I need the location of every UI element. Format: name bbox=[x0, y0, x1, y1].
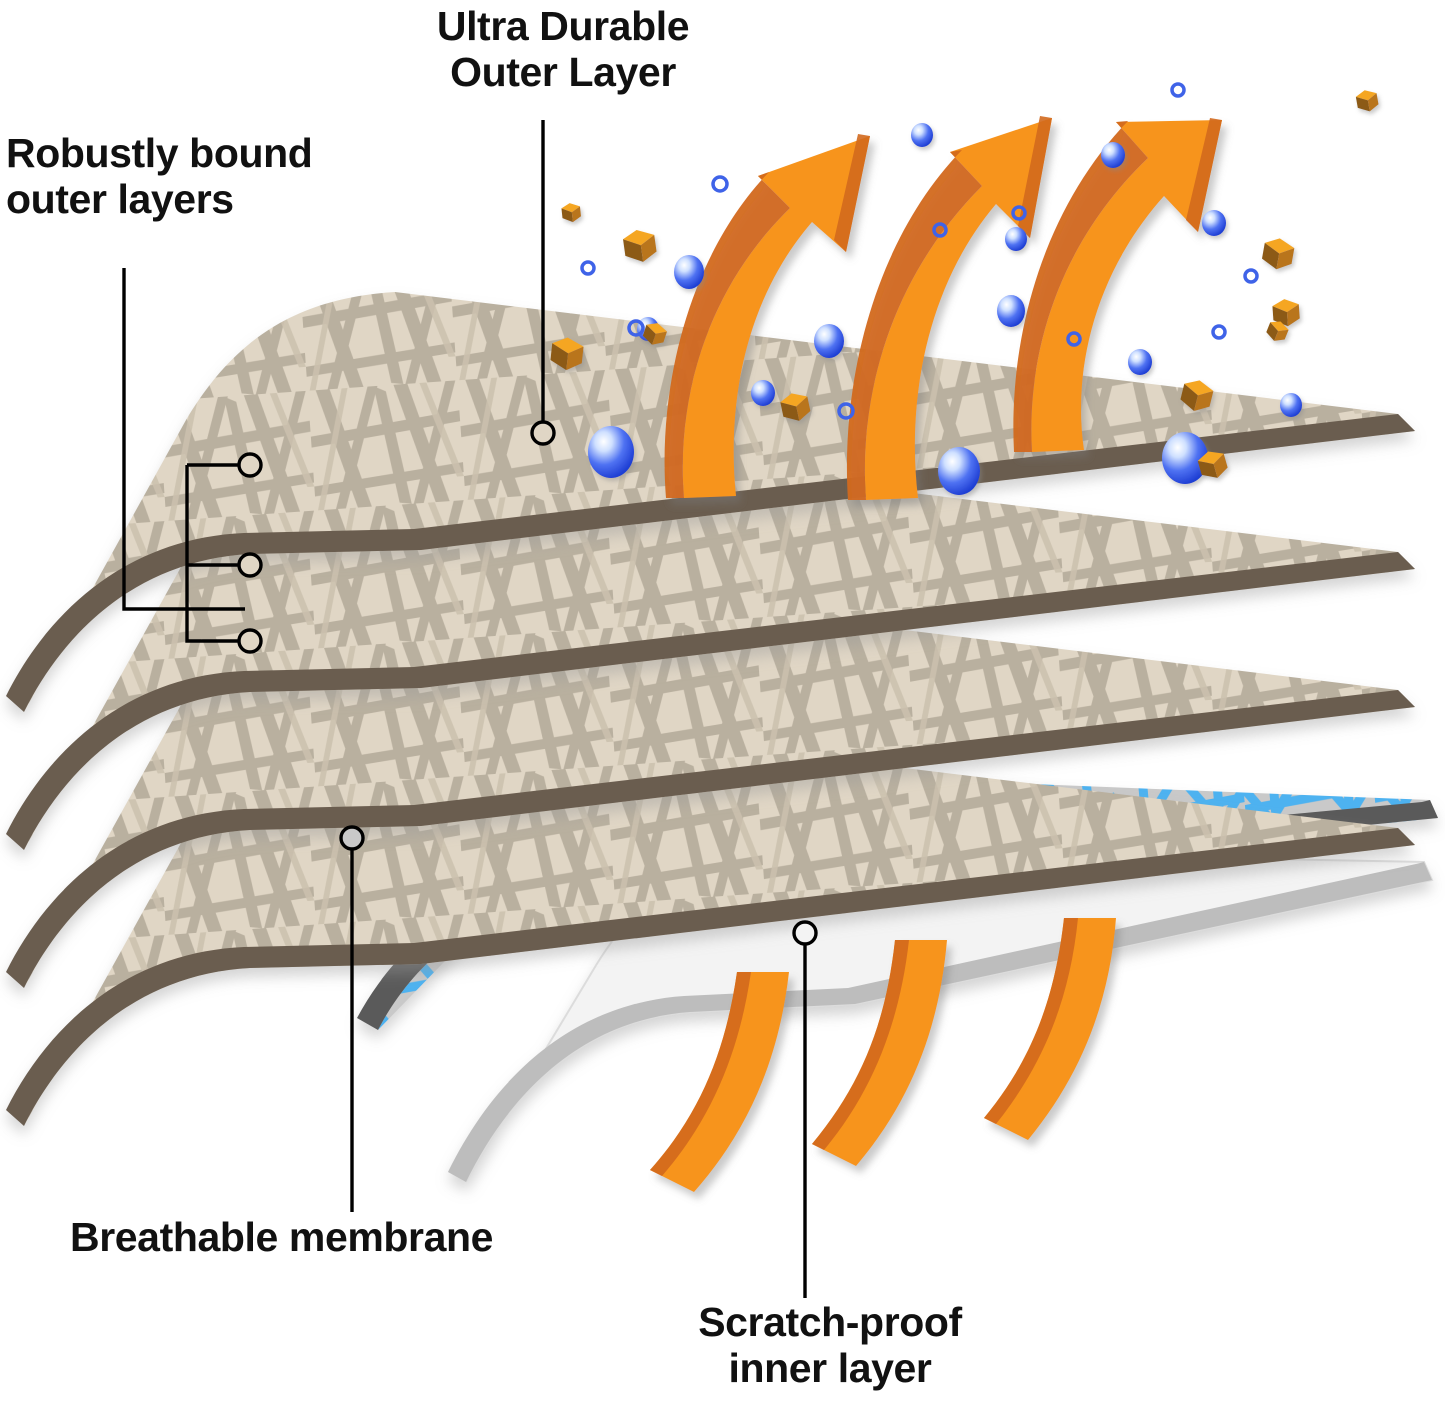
dirt-cube bbox=[561, 202, 582, 223]
droplet bbox=[938, 447, 980, 495]
droplet bbox=[588, 426, 634, 478]
callout-marker-bond-3[interactable] bbox=[239, 630, 261, 652]
droplet bbox=[911, 123, 933, 147]
droplet bbox=[814, 324, 844, 358]
droplet bbox=[1005, 227, 1027, 251]
label-ultra-durable-outer-layer: Ultra Durable Outer Layer bbox=[398, 4, 728, 96]
callout-marker-bond-2[interactable] bbox=[239, 554, 261, 576]
callout-marker-outer-layer[interactable] bbox=[532, 422, 554, 444]
diagram-canvas: Ultra Durable Outer Layer Robustly bound… bbox=[0, 0, 1445, 1410]
droplet bbox=[1280, 393, 1302, 417]
dirt-cube bbox=[622, 228, 658, 265]
droplet bbox=[997, 295, 1025, 327]
label-breathable-membrane: Breathable membrane bbox=[70, 1215, 670, 1261]
droplet bbox=[1128, 349, 1152, 375]
callout-marker-bond-1[interactable] bbox=[239, 454, 261, 476]
label-robustly-bound-outer-layers: Robustly bound outer layers bbox=[6, 131, 416, 223]
callout-marker-scratch-proof[interactable] bbox=[794, 922, 816, 944]
droplet bbox=[1101, 142, 1125, 168]
droplet-small bbox=[582, 262, 594, 274]
label-scratch-proof-inner-layer: Scratch-proof inner layer bbox=[620, 1300, 1040, 1392]
dirt-cube bbox=[1355, 88, 1379, 113]
droplet-small bbox=[713, 177, 727, 191]
droplet bbox=[751, 380, 775, 406]
droplet bbox=[1202, 210, 1226, 236]
droplet bbox=[674, 255, 704, 289]
dirt-cube bbox=[1261, 236, 1296, 272]
callout-marker-membrane[interactable] bbox=[341, 827, 363, 849]
droplet-small bbox=[1172, 84, 1184, 96]
droplet-small bbox=[1245, 270, 1257, 282]
droplet-small bbox=[1213, 326, 1225, 338]
